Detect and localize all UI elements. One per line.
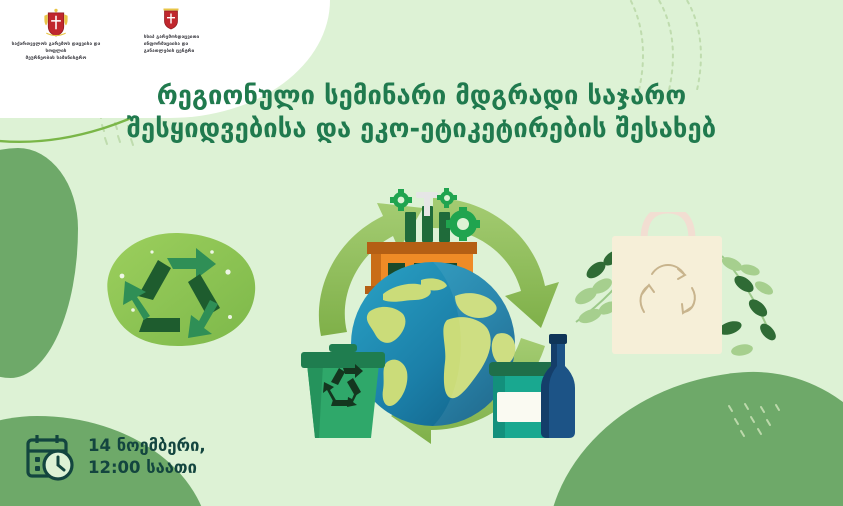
globe-recycle-cycle-illustration — [283, 176, 583, 456]
event-date-block: 14 ნოემბერი, 12:00 საათი — [24, 432, 206, 482]
factory-roof — [367, 242, 477, 254]
blob-shape-left — [0, 148, 78, 378]
ministry-caption-line-1: საქართველოს გარემოს დაცვისა და სოფლის — [12, 42, 101, 54]
georgia-coat-of-arms-small-icon — [161, 8, 181, 30]
recycle-bin-icon — [301, 344, 385, 438]
recycling-symbol-illustration — [92, 222, 267, 367]
ministry-logo-caption: საქართველოს გარემოს დაცვისა და სოფლის მე… — [8, 41, 104, 62]
dashed-arc-decor-icon — [603, 0, 783, 90]
ministry-logo: საქართველოს გარემოს დაცვისა და სოფლის მე… — [8, 8, 104, 62]
center-logo-caption: სსიპ გარემოსდაცვითი ინფორმაციისა და განა… — [143, 34, 199, 55]
event-date-text: 14 ნოემბერი, 12:00 საათი — [88, 435, 206, 479]
tote-bag-illustration — [572, 212, 787, 377]
calendar-clock-icon — [24, 432, 76, 482]
georgia-coat-of-arms-icon — [41, 8, 71, 38]
jar-label — [497, 392, 547, 422]
logo-group: საქართველოს გარემოს დაცვისა და სოფლის მე… — [0, 0, 330, 118]
event-time-line: 12:00 საათი — [88, 457, 206, 479]
ministry-caption-line-2: მეურნეობის სამინისტრო — [26, 56, 87, 61]
poster-canvas: საქართველოს გარემოს დაცვისა და სოფლის მე… — [0, 0, 843, 506]
tick-mark-decor-icon-bottom — [725, 402, 785, 440]
glass-bottle-icon — [541, 334, 575, 438]
globe-icon — [351, 262, 515, 426]
bag-body — [612, 236, 722, 354]
foliage-right — [717, 254, 779, 357]
bag-handle — [644, 212, 692, 240]
event-date-line: 14 ნოემბერი, — [88, 435, 206, 457]
center-logo: სსიპ გარემოსდაცვითი ინფორმაციისა და განა… — [116, 8, 226, 55]
center-caption-line-3: განათლების ცენტრი — [144, 49, 195, 54]
center-caption-line-2: ინფორმაციისა და — [144, 42, 188, 47]
center-caption-line-1: სსიპ გარემოსდაცვითი — [144, 35, 199, 40]
